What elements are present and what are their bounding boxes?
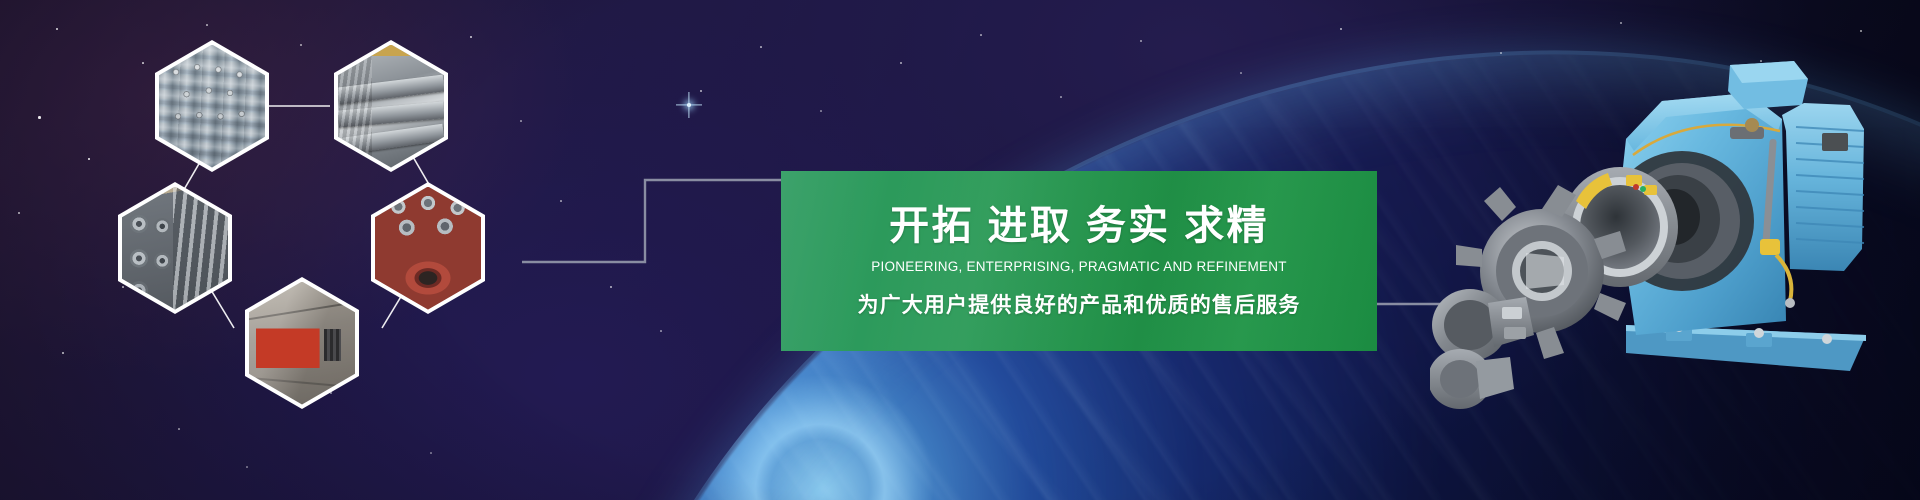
star-icon [900,62,902,64]
coupling-sleeve [1432,289,1534,361]
sensor-block [1760,239,1780,255]
concrete-crack [249,298,355,322]
hexagon-photo-frame [249,282,355,405]
gearbox-reducer-illustration [1430,35,1920,435]
coupling-sleeve [1430,349,1514,409]
panel-headline: 开拓 进取 务实 求精 [889,206,1269,246]
star-icon [1340,28,1342,30]
plate-band [338,123,444,155]
hexagon-product-cluster [0,0,720,500]
star-icon [980,34,982,36]
bearing-rings-photo [122,187,228,310]
motor-nameplate [1822,133,1848,151]
hexagon-photo-frame [375,187,481,310]
castings-sleeves-photo [159,45,265,168]
red-coupling-photo [249,282,355,405]
star-icon [760,46,762,48]
star-icon [1240,72,1242,74]
machined-plates-photo [338,45,444,168]
panel-tagline: 为广大用户提供良好的产品和优质的售后服务 [857,295,1300,316]
star-icon [1060,96,1062,98]
hexagon-photo-frame [122,187,228,310]
star-icon [1140,40,1142,42]
hero-banner: 开拓 进取 务实 求精 PIONEERING, ENTERPRISING, PR… [0,0,1920,500]
star-icon [1620,22,1622,24]
red-gearcase-photo [375,187,481,310]
hexagon-photo-frame [159,45,265,168]
star-icon [1860,30,1862,32]
star-icon [820,110,822,112]
plate-band [338,101,444,127]
plate-band [338,75,444,105]
panel-subline: PIONEERING, ENTERPRISING, PRAGMATIC AND … [871,260,1286,274]
hexagon-photo-frame [338,45,444,168]
slogan-panel: 开拓 进取 务实 求精 PIONEERING, ENTERPRISING, PR… [781,171,1377,351]
